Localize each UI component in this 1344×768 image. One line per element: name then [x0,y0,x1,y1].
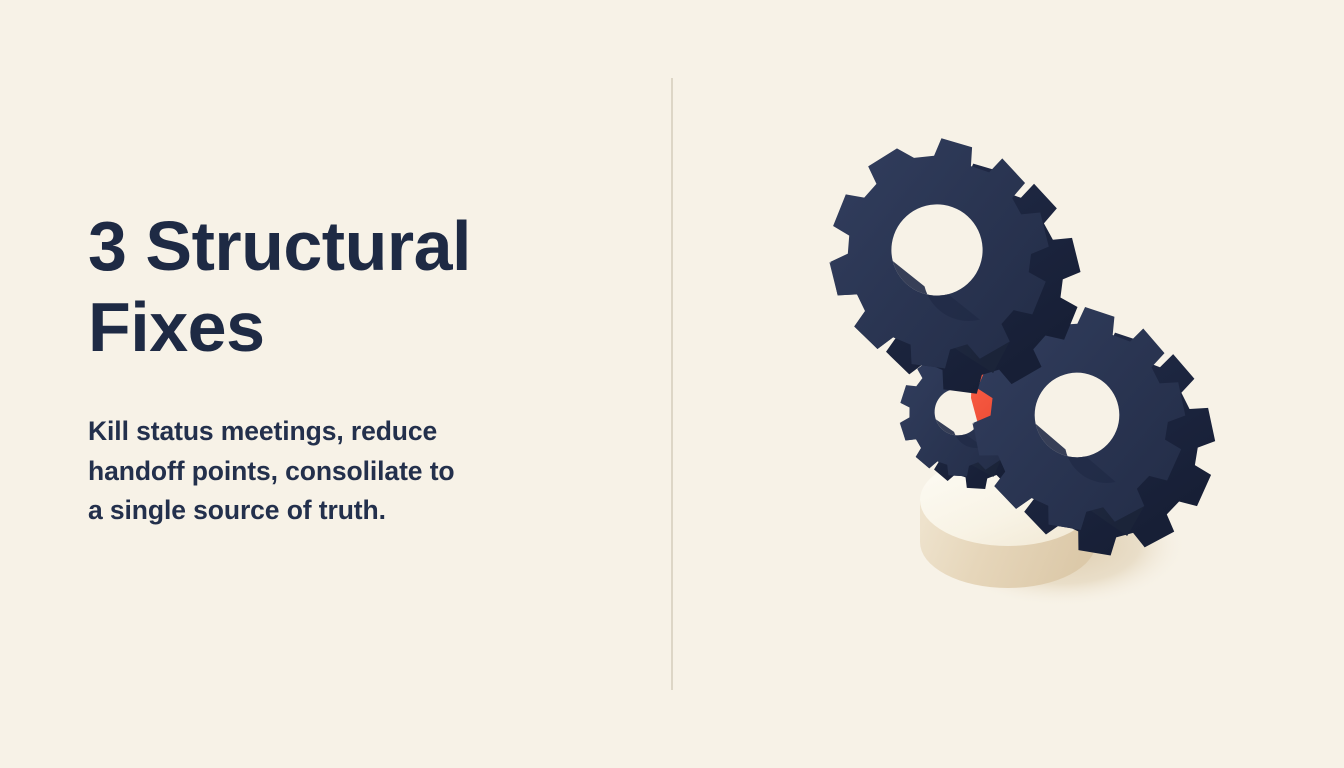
slide-subtitle: Kill status meetings, reduce handoff poi… [88,412,558,531]
text-pane: 3 Structural Fixes Kill status meetings,… [88,206,558,531]
page-title: 3 Structural Fixes [88,206,558,368]
gears-illustration [672,0,1344,768]
slide-root: 3 Structural Fixes Kill status meetings,… [0,0,1344,768]
illustration-pane [672,0,1344,768]
